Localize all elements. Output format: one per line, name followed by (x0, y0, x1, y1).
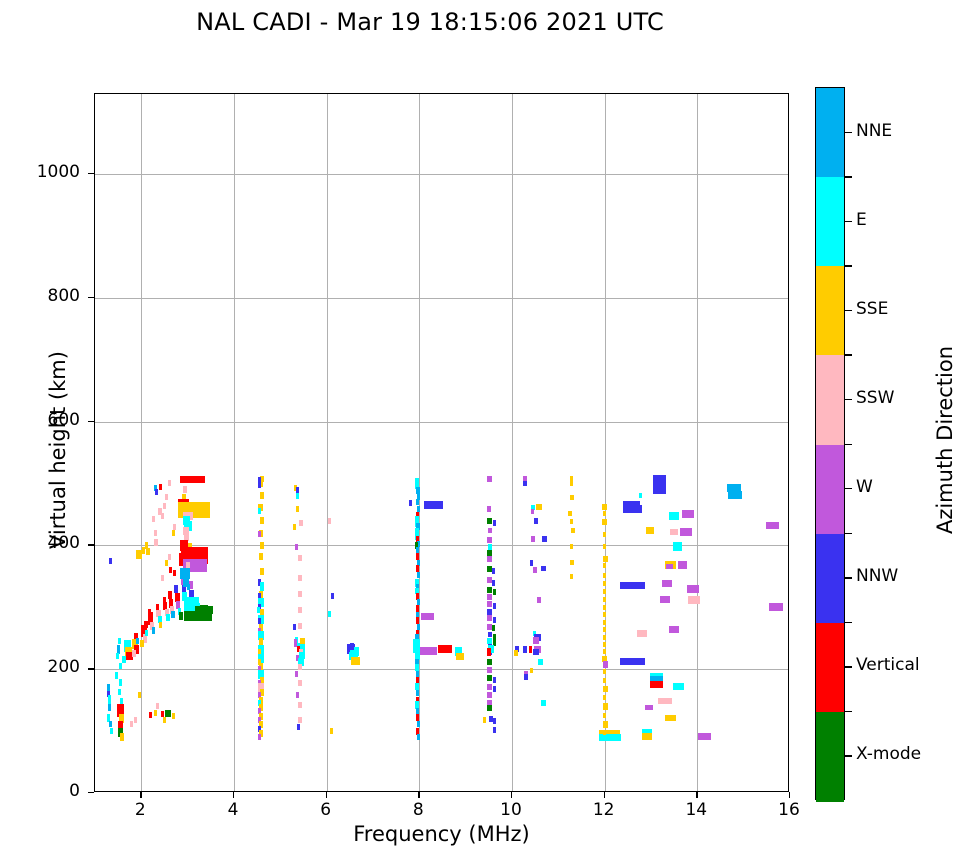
echo-mark (492, 580, 495, 586)
echo-mark (328, 611, 331, 617)
echo-mark (542, 536, 547, 542)
x-tick-label: 2 (110, 800, 170, 820)
gridline-x (234, 94, 235, 791)
echo-mark (120, 733, 125, 741)
echo-mark (108, 704, 111, 711)
x-tick (511, 792, 512, 798)
echo-mark (258, 734, 261, 740)
echo-mark (493, 727, 496, 733)
echo-mark (639, 493, 642, 498)
echo-mark (155, 489, 158, 495)
echo-mark (183, 486, 187, 493)
echo-mark (119, 663, 122, 669)
echo-mark (488, 528, 492, 533)
echo-mark (168, 480, 171, 486)
x-tick (696, 792, 697, 798)
x-tick (140, 792, 141, 798)
colorbar-boundary-tick (845, 533, 852, 534)
echo-mark (533, 637, 540, 644)
colorbar-label-x-mode: X-mode (856, 744, 921, 764)
echo-mark (293, 624, 296, 630)
echo-mark (174, 585, 178, 593)
echo-mark (331, 593, 334, 599)
echo-mark (533, 649, 539, 655)
echo-mark (603, 635, 607, 640)
echo-mark (646, 527, 654, 534)
echo-mark (298, 575, 303, 581)
colorbar-tick (845, 310, 852, 311)
echo-mark (260, 582, 265, 591)
echo-mark (603, 563, 607, 568)
echo-mark (136, 550, 143, 559)
gridline-x (141, 94, 142, 791)
echo-mark (115, 672, 118, 679)
echo-mark (603, 721, 609, 728)
x-tick-label: 8 (388, 800, 448, 820)
echo-mark (298, 702, 303, 708)
gridline-y (95, 669, 788, 670)
echo-mark (487, 675, 492, 681)
echo-mark (602, 519, 607, 525)
echo-mark (297, 724, 300, 730)
gridline-x (512, 94, 513, 791)
x-tick (233, 792, 234, 798)
echo-mark (523, 646, 527, 653)
echo-mark (328, 518, 331, 524)
echo-mark (678, 561, 687, 569)
echo-mark (487, 659, 492, 665)
echo-mark (687, 585, 699, 593)
plot-area[interactable] (94, 93, 789, 792)
x-axis-title: Frequency (MHz) (94, 822, 789, 846)
echo-mark (149, 712, 152, 718)
echo-mark (487, 648, 492, 656)
echo-mark (257, 607, 260, 613)
y-tick (88, 792, 94, 793)
echo-mark (148, 609, 151, 615)
y-axis-title: Virtual height (km) (46, 250, 70, 650)
echo-mark (260, 517, 265, 524)
echo-mark (541, 566, 546, 571)
y-tick-label: 1000 (10, 162, 80, 182)
colorbar-boundary-tick (845, 176, 852, 177)
echo-mark (165, 494, 168, 500)
echo-mark (666, 564, 673, 569)
echo-mark (492, 568, 495, 574)
echo-mark (537, 597, 542, 603)
x-tick-label: 4 (203, 800, 263, 820)
echo-mark (487, 550, 492, 556)
echo-mark (260, 568, 265, 575)
echo-mark (179, 612, 183, 620)
echo-mark (154, 710, 157, 716)
echo-mark (438, 645, 452, 653)
echo-mark (116, 653, 119, 659)
echo-mark (529, 646, 533, 653)
x-tick (604, 792, 605, 798)
echo-mark (658, 698, 672, 704)
echo-mark (570, 574, 573, 579)
colorbar-segment-sse[interactable] (816, 266, 844, 356)
colorbar-segment-w[interactable] (816, 445, 844, 535)
echo-mark (487, 667, 492, 673)
echo-mark (669, 512, 679, 520)
echo-mark (603, 556, 608, 562)
x-tick (789, 792, 790, 798)
echo-mark (154, 530, 157, 536)
echo-mark (146, 548, 150, 555)
x-tick (418, 792, 419, 798)
echo-mark (140, 640, 144, 647)
x-tick-label: 6 (296, 800, 356, 820)
echo-mark (523, 481, 527, 486)
echo-mark (130, 721, 133, 727)
echo-mark (487, 518, 492, 524)
echo-mark (680, 528, 692, 536)
echo-mark (728, 491, 742, 499)
echo-mark (669, 626, 679, 633)
echo-mark (603, 573, 607, 578)
echo-mark (688, 596, 700, 604)
echo-mark (298, 591, 303, 597)
echo-mark (172, 713, 175, 719)
echo-mark (682, 510, 694, 518)
echo-mark (487, 556, 492, 562)
x-tick-label: 16 (759, 800, 819, 820)
gridline-y (95, 174, 788, 175)
echo-mark (168, 591, 172, 599)
echo-mark (145, 630, 148, 636)
y-tick-label: 200 (10, 657, 80, 677)
echo-mark (295, 671, 298, 677)
echo-mark (161, 711, 164, 717)
echo-mark (417, 721, 420, 727)
y-tick (88, 668, 94, 669)
echo-mark (536, 504, 542, 510)
echo-mark (258, 508, 261, 514)
echo-mark (603, 661, 608, 668)
plot-clip (95, 94, 788, 791)
echo-mark (603, 686, 608, 692)
gridline-y (95, 298, 788, 299)
echo-mark (416, 690, 419, 696)
echo-mark (166, 614, 170, 621)
echo-mark (603, 669, 607, 674)
echo-mark (487, 476, 492, 482)
echo-mark (514, 650, 518, 656)
x-tick-label: 10 (481, 800, 541, 820)
echo-mark (665, 715, 675, 721)
echo-mark (603, 532, 606, 537)
echo-mark (487, 638, 492, 644)
echo-mark (258, 477, 261, 483)
echo-mark (570, 481, 574, 486)
echo-mark (620, 582, 646, 589)
echo-mark (119, 679, 122, 686)
echo-mark (603, 511, 607, 516)
colorbar-label-sse: SSE (856, 299, 888, 319)
colorbar-segment-x-mode[interactable] (816, 712, 844, 802)
echo-mark (620, 658, 645, 665)
echo-mark (183, 527, 189, 535)
echo-mark (132, 650, 136, 657)
echo-mark (637, 630, 647, 637)
echo-mark (110, 728, 113, 734)
colorbar-tick (845, 755, 852, 756)
echo-mark (298, 555, 303, 561)
colorbar-segment-nne[interactable] (816, 88, 844, 178)
echo-mark (603, 597, 607, 602)
echo-mark (493, 617, 496, 623)
gridline-x (419, 94, 420, 791)
x-tick-label: 14 (666, 800, 726, 820)
echo-mark (456, 653, 463, 660)
echo-mark (109, 558, 112, 564)
echo-mark (298, 664, 303, 670)
echo-mark (298, 607, 303, 613)
colorbar-boundary-tick (845, 711, 852, 712)
echo-mark (524, 674, 528, 680)
echo-mark (171, 611, 175, 618)
echo-mark (417, 734, 420, 740)
colorbar-boundary-tick (845, 622, 852, 623)
echo-mark (173, 570, 176, 576)
echo-mark (161, 513, 164, 519)
echo-mark (487, 594, 492, 600)
colorbar-tick (845, 221, 852, 222)
echo-mark (163, 503, 166, 509)
echo-mark (134, 717, 137, 723)
echo-mark (603, 612, 607, 617)
y-tick (88, 544, 94, 545)
echo-mark (483, 717, 486, 723)
echo-mark (165, 560, 168, 566)
echo-mark (488, 632, 492, 637)
echo-mark (603, 703, 609, 710)
x-tick (326, 792, 327, 798)
y-tick (88, 297, 94, 298)
echo-mark (603, 642, 607, 647)
echo-mark (159, 622, 162, 628)
echo-mark (531, 509, 534, 514)
echo-mark (766, 522, 779, 529)
echo-mark (142, 547, 145, 554)
echo-mark (603, 605, 607, 610)
echo-mark (603, 620, 607, 625)
echo-mark (493, 589, 496, 595)
echo-mark (530, 560, 534, 566)
echo-mark (570, 544, 573, 549)
echo-mark (673, 683, 684, 690)
echo-mark (570, 495, 574, 500)
echo-mark (645, 705, 653, 710)
echo-mark (296, 692, 299, 698)
echo-mark (296, 493, 299, 499)
echo-mark (599, 734, 621, 741)
echo-mark (670, 529, 678, 535)
echo-mark (603, 713, 607, 718)
colorbar-title: Azimuth Direction (933, 240, 957, 640)
echo-mark (156, 703, 159, 709)
echo-mark (159, 484, 162, 490)
y-tick-label: 0 (10, 781, 80, 801)
echo-mark (602, 504, 607, 510)
colorbar-label-vertical: Vertical (856, 655, 920, 675)
echo-mark (653, 487, 666, 494)
echo-mark (163, 717, 166, 723)
colorbar[interactable] (815, 87, 845, 800)
echo-mark (298, 623, 303, 629)
echo-mark (351, 657, 360, 665)
echo-mark (623, 505, 643, 513)
x-tick-label: 12 (574, 800, 634, 820)
echo-mark (152, 516, 155, 522)
gridline-x (327, 94, 328, 791)
echo-mark (161, 575, 164, 581)
echo-mark (662, 580, 672, 587)
colorbar-label-nnw: NNW (856, 566, 898, 586)
echo-mark (603, 544, 606, 549)
echo-mark (296, 506, 299, 512)
echo-mark (493, 718, 496, 724)
echo-mark (487, 506, 492, 512)
gridline-x (697, 94, 698, 791)
echo-mark (534, 518, 538, 524)
echo-mark (173, 524, 176, 530)
echo-mark (493, 677, 496, 683)
echo-mark (492, 625, 495, 631)
colorbar-label-w: W (856, 477, 873, 497)
echo-mark (168, 710, 171, 717)
echo-mark (487, 684, 492, 690)
echo-mark (295, 544, 298, 550)
echo-mark (169, 567, 172, 573)
echo-mark (417, 572, 420, 578)
echo-mark (487, 615, 492, 621)
echo-mark (487, 587, 492, 593)
echo-mark (570, 519, 573, 524)
gridline-y (95, 422, 788, 423)
echo-mark (541, 700, 547, 706)
echo-mark (421, 613, 434, 620)
echo-mark (259, 638, 264, 645)
echo-mark (136, 638, 139, 644)
echo-mark (533, 567, 537, 573)
colorbar-boundary-tick (845, 444, 852, 445)
echo-mark (260, 492, 265, 499)
echo-mark (571, 528, 575, 533)
echo-mark (293, 524, 296, 530)
echo-mark (258, 531, 261, 537)
colorbar-tick (845, 132, 852, 133)
echo-mark (195, 606, 214, 614)
echo-mark (769, 603, 783, 611)
echo-mark (698, 733, 711, 740)
echo-mark (122, 656, 126, 663)
colorbar-tick (845, 577, 852, 578)
echo-mark (603, 695, 607, 700)
echo-mark (118, 638, 121, 644)
echo-mark (299, 520, 303, 526)
echo-mark (538, 659, 544, 665)
echo-mark (154, 539, 158, 546)
echo-mark (531, 536, 535, 542)
echo-mark (487, 537, 492, 543)
echo-mark (416, 499, 419, 505)
colorbar-segment-ssw[interactable] (816, 355, 844, 445)
y-tick (88, 421, 94, 422)
echo-mark (168, 554, 171, 560)
echo-mark (109, 721, 112, 727)
echo-mark (568, 511, 572, 516)
colorbar-tick (845, 488, 852, 489)
colorbar-segment-vertical[interactable] (816, 623, 844, 713)
echo-mark (488, 544, 492, 550)
echo-mark (118, 689, 121, 695)
echo-mark (487, 601, 492, 607)
echo-mark (298, 680, 303, 686)
echo-mark (673, 542, 682, 551)
echo-mark (259, 553, 264, 560)
echo-mark (330, 728, 333, 734)
colorbar-tick (845, 666, 852, 667)
echo-mark (603, 581, 607, 586)
echo-mark (493, 520, 496, 526)
ionogram-figure: NAL CADI - Mar 19 18:15:06 2021 UTC 2468… (0, 0, 958, 857)
colorbar-segment-nnw[interactable] (816, 534, 844, 624)
echo-mark (530, 668, 533, 673)
echo-mark (172, 530, 175, 536)
colorbar-label-ssw: SSW (856, 388, 894, 408)
echo-mark (660, 596, 670, 603)
y-tick (88, 173, 94, 174)
echo-mark (493, 603, 496, 609)
figure-title: NAL CADI - Mar 19 18:15:06 2021 UTC (0, 8, 860, 36)
echo-mark (487, 705, 492, 711)
echo-mark (420, 647, 438, 655)
colorbar-label-e: E (856, 210, 867, 230)
echo-mark (350, 643, 355, 650)
echo-mark (642, 733, 652, 740)
echo-mark (650, 681, 663, 688)
colorbar-boundary-tick (845, 265, 852, 266)
echo-mark (260, 542, 265, 549)
echo-mark (603, 730, 607, 735)
echo-mark (493, 686, 496, 692)
echo-mark (603, 589, 607, 594)
echo-mark (570, 560, 574, 565)
colorbar-label-nne: NNE (856, 121, 892, 141)
echo-mark (603, 649, 607, 654)
echo-mark (487, 692, 492, 698)
colorbar-segment-e[interactable] (816, 177, 844, 267)
echo-mark (296, 487, 299, 493)
colorbar-boundary-tick (845, 354, 852, 355)
echo-mark (298, 717, 303, 723)
echo-mark (603, 678, 607, 683)
echo-mark (487, 609, 492, 615)
echo-mark (138, 692, 141, 698)
echo-mark (424, 501, 443, 509)
echo-mark (603, 627, 607, 632)
colorbar-tick (845, 399, 852, 400)
echo-mark (180, 476, 206, 483)
echo-mark (187, 584, 190, 590)
echo-mark (409, 500, 412, 506)
echo-mark (152, 627, 155, 634)
